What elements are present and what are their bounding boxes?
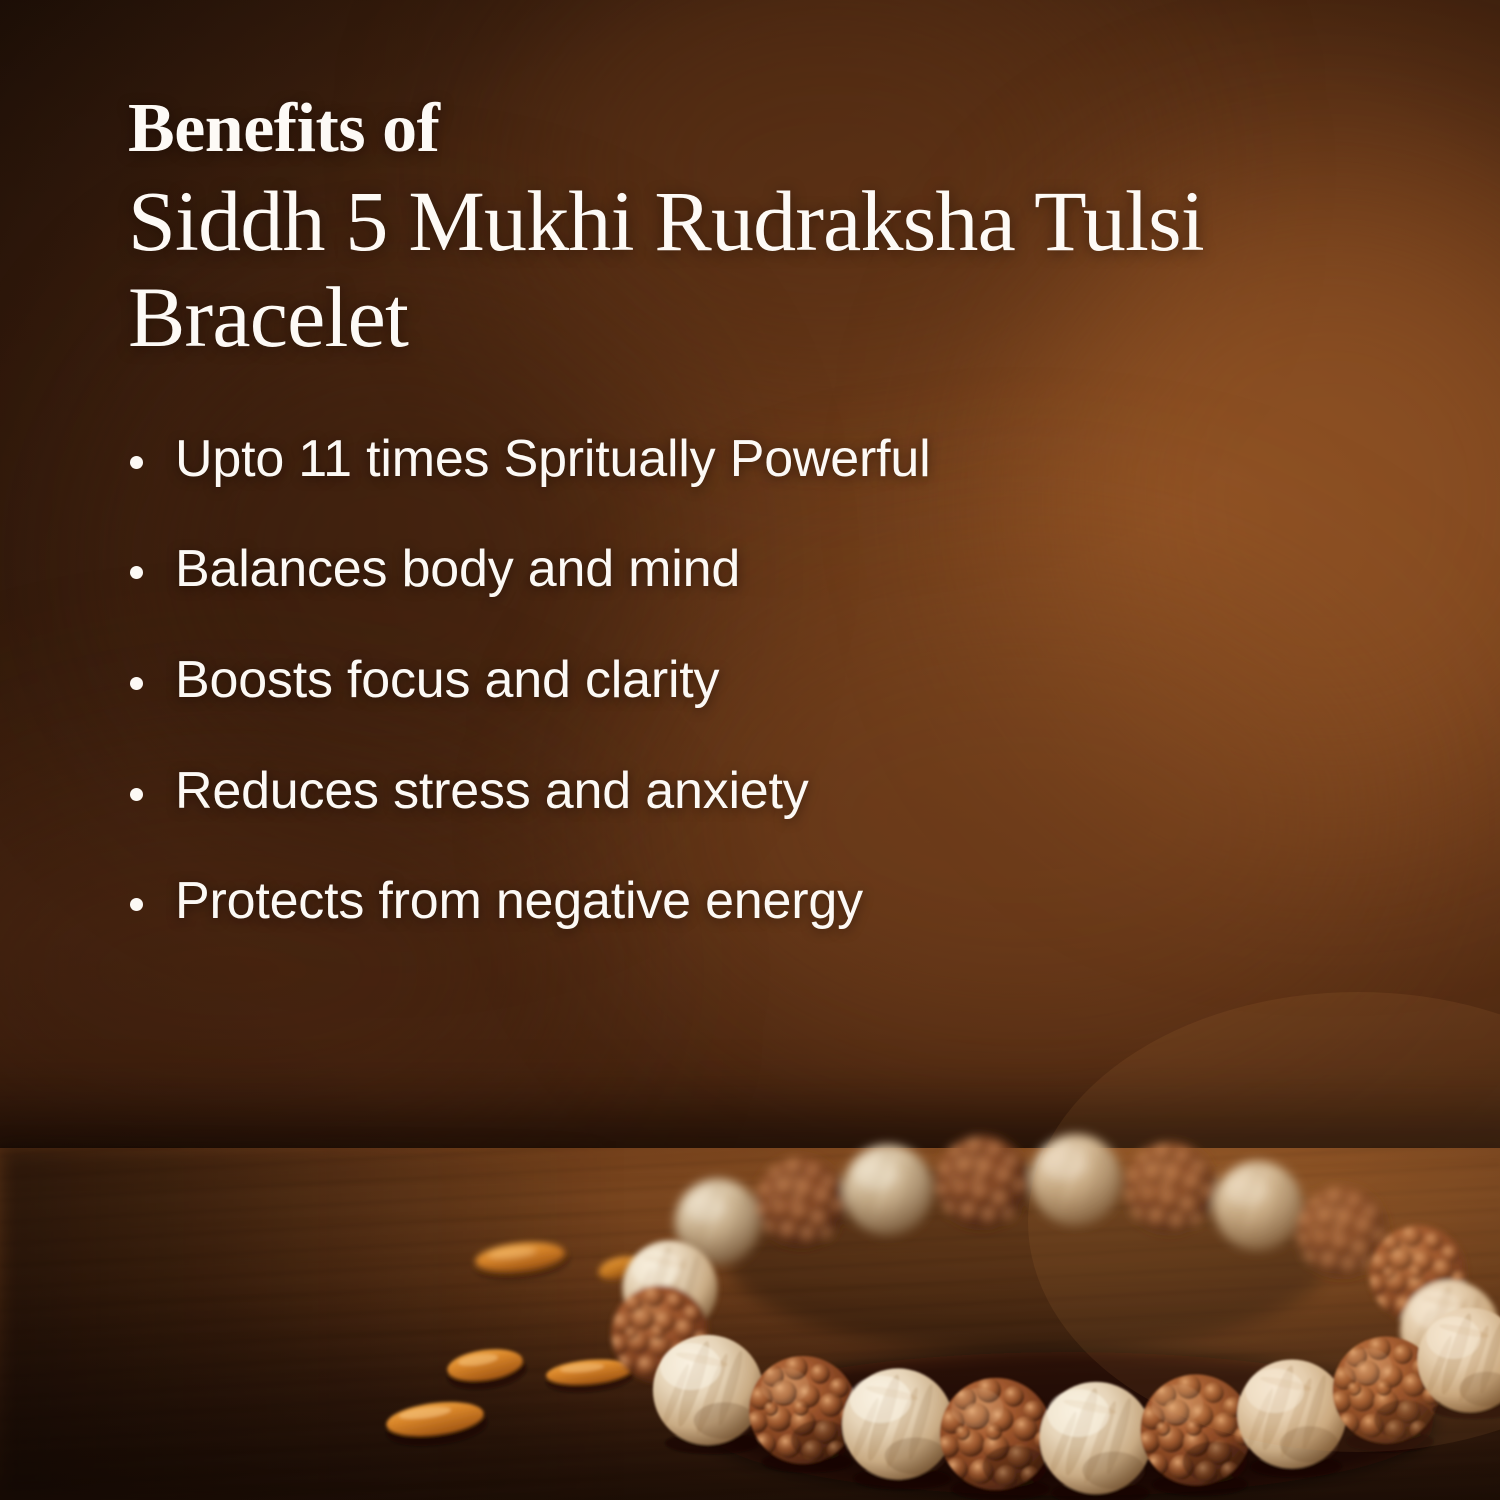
bullet-dot-icon (130, 456, 143, 469)
product-benefits-poster: Benefits of Siddh 5 Mukhi Rudraksha Tuls… (0, 0, 1500, 1500)
benefit-label: Upto 11 times Spritually Powerful (175, 430, 930, 488)
list-item: Upto 11 times Spritually Powerful (128, 432, 1418, 487)
list-item: Reduces stress and anxiety (128, 764, 1418, 819)
list-item: Boosts focus and clarity (128, 653, 1418, 708)
rudraksha-tulsi-bracelet (598, 1052, 1500, 1500)
benefit-label: Reduces stress and anxiety (175, 762, 809, 820)
bead-tulsi-back (843, 1145, 934, 1236)
bullet-dot-icon (130, 898, 143, 911)
copy-block: Benefits of Siddh 5 Mukhi Rudraksha Tuls… (128, 94, 1418, 929)
bullet-dot-icon (130, 677, 143, 690)
kicker-text: Benefits of (128, 94, 1418, 164)
page-title: Siddh 5 Mukhi Rudraksha Tulsi Bracelet (128, 174, 1388, 366)
list-item: Protects from negative energy (128, 874, 1418, 929)
benefit-label: Boosts focus and clarity (175, 651, 719, 709)
benefit-label: Protects from negative energy (175, 872, 863, 930)
benefits-list: Upto 11 times Spritually Powerful Balanc… (128, 432, 1418, 929)
bead-tulsi-front (653, 1335, 763, 1454)
bullet-dot-icon (130, 788, 143, 801)
benefit-label: Balances body and mind (175, 540, 740, 598)
list-item: Balances body and mind (128, 542, 1418, 597)
bullet-dot-icon (130, 566, 143, 579)
